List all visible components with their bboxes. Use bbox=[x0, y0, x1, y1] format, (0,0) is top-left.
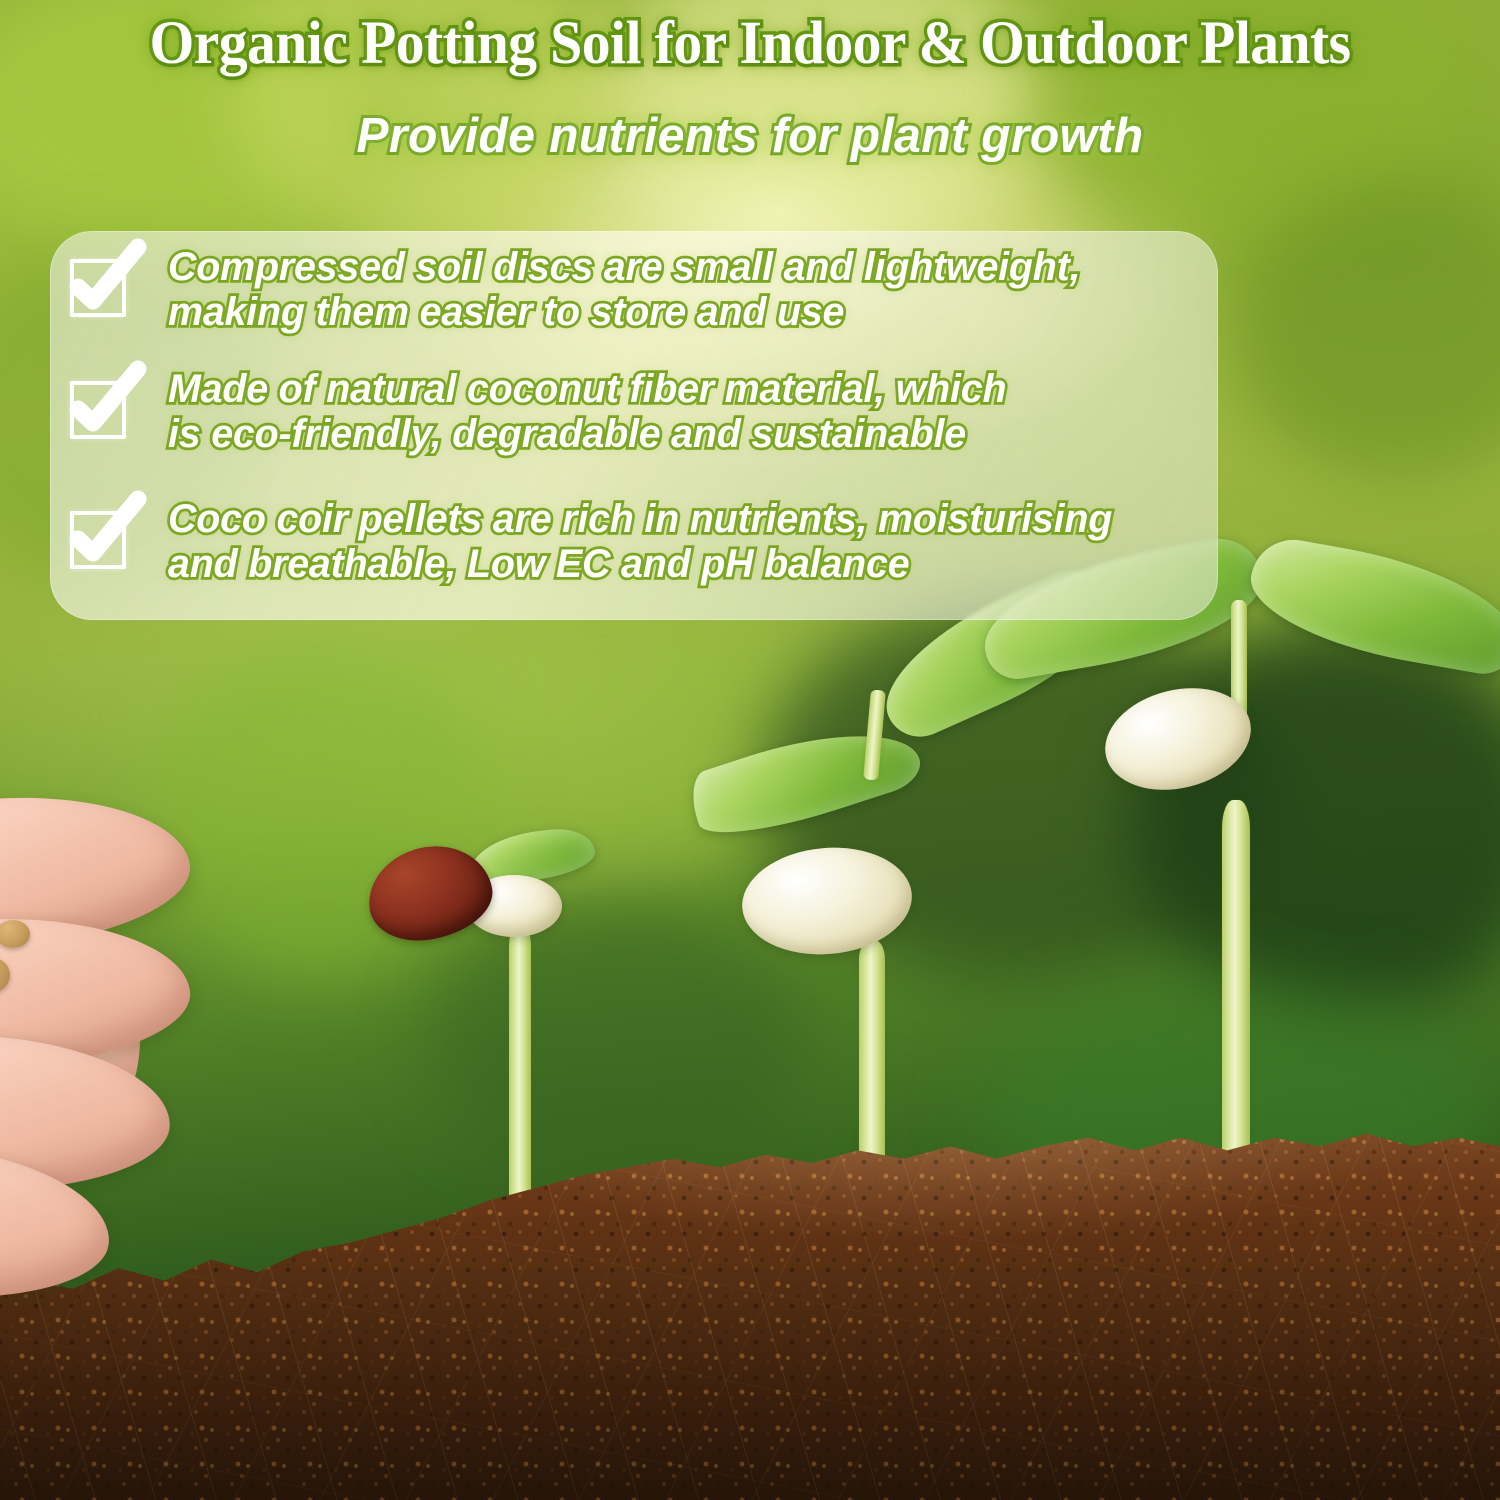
hand-with-pellets bbox=[0, 760, 450, 1320]
feature-item: Made of natural coconut fiber material, … bbox=[50, 371, 1310, 491]
seedling-2-leaf-left bbox=[684, 706, 927, 851]
checkbox-checked-icon bbox=[70, 259, 126, 317]
feature-list: Compressed soil discs are small and ligh… bbox=[50, 231, 1310, 620]
seedling-2-cotyledon bbox=[738, 841, 917, 961]
feature-item-text: Compressed soil discs are small and ligh… bbox=[168, 245, 1291, 335]
feature-item: Coco coir pellets are rich in nutrients,… bbox=[50, 501, 1310, 621]
feature-item: Compressed soil discs are small and ligh… bbox=[50, 249, 1310, 369]
page-subheadline: Provide nutrients for plant growth bbox=[15, 108, 1485, 164]
checkbox-checked-icon bbox=[70, 511, 126, 569]
checkbox-checked-icon bbox=[70, 381, 126, 439]
feature-item-text: Made of natural coconut fiber material, … bbox=[168, 367, 1291, 457]
product-infographic: Organic Potting Soil for Indoor & Outdoo… bbox=[0, 0, 1500, 1500]
feature-item-text: Coco coir pellets are rich in nutrients,… bbox=[168, 497, 1291, 587]
check-mark-icon bbox=[66, 493, 150, 577]
check-mark-icon bbox=[66, 241, 150, 325]
page-headline: Organic Potting Soil for Indoor & Outdoo… bbox=[41, 12, 1459, 75]
check-mark-icon bbox=[66, 363, 150, 447]
